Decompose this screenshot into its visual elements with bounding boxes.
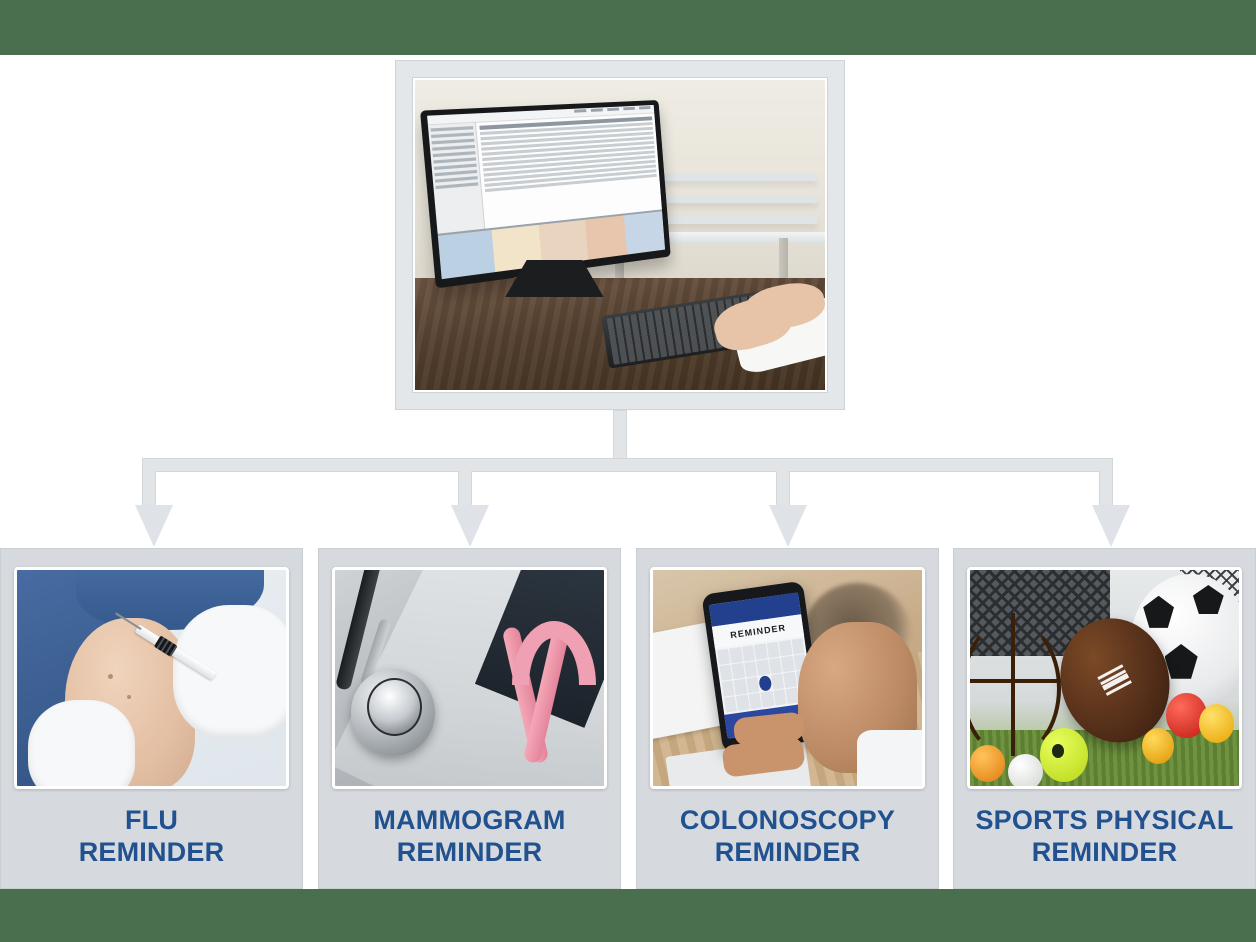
sports-equipment-illustration — [970, 570, 1239, 786]
mammogram-reminder-card[interactable]: MAMMOGRAM REMINDER — [318, 548, 621, 889]
flu-shot-illustration — [17, 570, 286, 786]
tennis-ball-icon — [1040, 728, 1088, 782]
distribution-bus-connector — [142, 458, 1113, 472]
reminder-cards-row: FLU REMINDER MAMMOG — [0, 548, 1256, 889]
parent-stem-connector — [613, 410, 627, 462]
orange-ball-icon — [970, 745, 1005, 782]
sports-physical-reminder-card[interactable]: SPORTS PHYSICAL REMINDER — [953, 548, 1256, 889]
mammogram-reminder-photo — [332, 567, 607, 789]
arrow-down-icon-4 — [1092, 505, 1130, 547]
bottom-green-band — [0, 889, 1256, 942]
yellow-ball-icon-1 — [1199, 704, 1234, 743]
arrow-down-icon-2 — [451, 505, 489, 547]
mammogram-reminder-label: MAMMOGRAM REMINDER — [373, 805, 565, 868]
golf-ball-icon — [1008, 754, 1043, 786]
arrow-down-icon-3 — [769, 505, 807, 547]
stethoscope-ribbon-illustration — [335, 570, 604, 786]
emr-workstation-photo — [413, 78, 827, 392]
emr-workstation-card[interactable] — [395, 60, 845, 410]
flu-reminder-card[interactable]: FLU REMINDER — [0, 548, 303, 889]
colonoscopy-reminder-label: COLONOSCOPY REMINDER — [680, 805, 895, 868]
sports-physical-reminder-label: SPORTS PHYSICAL REMINDER — [975, 805, 1233, 868]
pink-ribbon-icon — [502, 626, 572, 764]
office-scene-illustration — [415, 80, 825, 390]
top-green-band — [0, 0, 1256, 55]
flu-reminder-photo — [14, 567, 289, 789]
diagram-canvas: FLU REMINDER MAMMOG — [0, 0, 1256, 942]
colonoscopy-reminder-photo: REMINDER — [650, 567, 925, 789]
arrow-down-icon-1 — [135, 505, 173, 547]
flu-reminder-label: FLU REMINDER — [79, 805, 225, 868]
colonoscopy-reminder-card[interactable]: REMINDER — [636, 548, 939, 889]
phone-reminder-illustration: REMINDER — [653, 570, 922, 786]
sports-physical-reminder-photo — [967, 567, 1242, 789]
